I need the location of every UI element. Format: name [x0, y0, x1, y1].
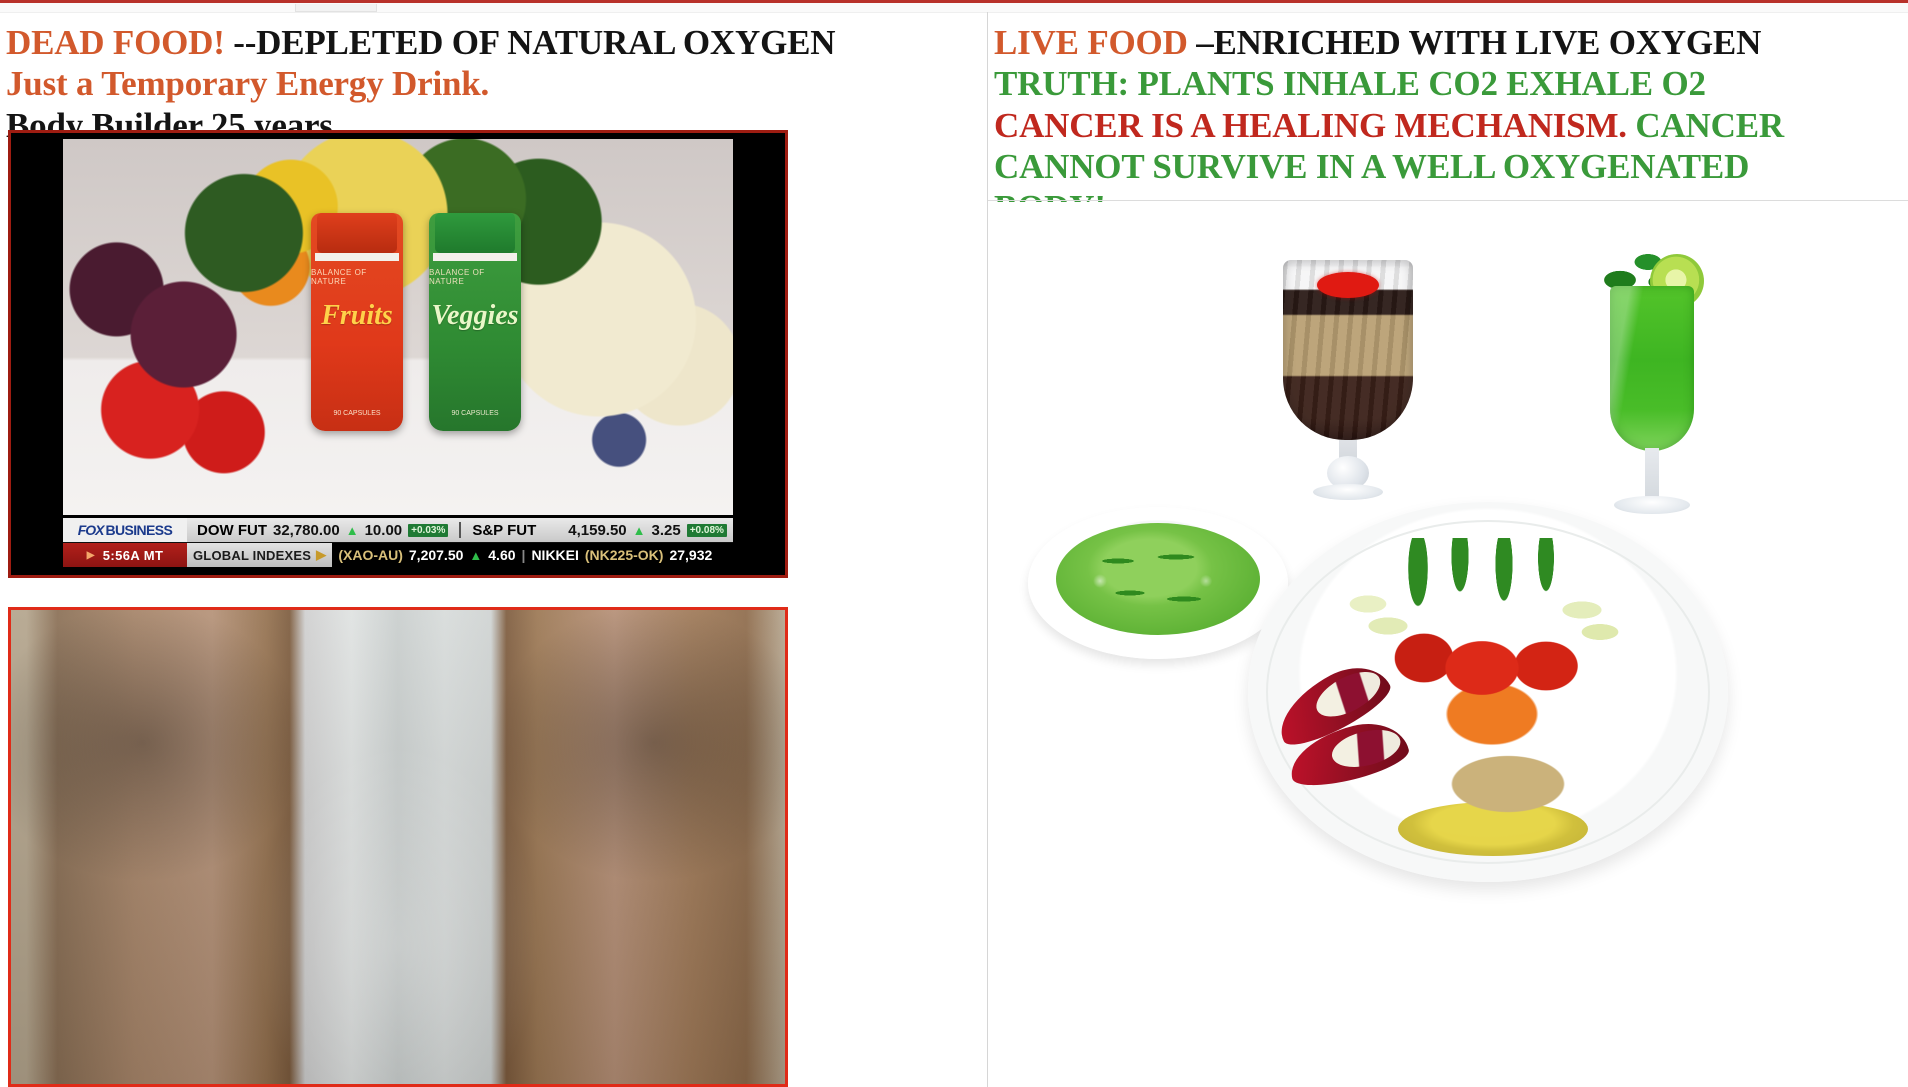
capsule-count-fruits: 90 CAPSULES	[333, 410, 380, 417]
toolbar-ghost-tab	[295, 4, 377, 12]
xao-au-up-arrow-icon: ▲	[469, 548, 482, 563]
layered-dessert-drink-glass	[1283, 260, 1413, 490]
global-indexes-arrow-icon: ▶	[316, 547, 326, 563]
green-soup-bowl	[1028, 507, 1288, 659]
capsule-count-veggies: 90 CAPSULES	[451, 410, 498, 417]
sp-fut-label: S&P FUT	[472, 522, 536, 539]
tv-screenshot-frame: BALANCE OF NATURE Fruits 90 CAPSULES BAL…	[8, 130, 788, 578]
enriched-oxygen-label: –ENRICHED WITH LIVE OXYGEN	[1196, 23, 1761, 62]
brand-text-fruits: BALANCE OF NATURE	[311, 268, 403, 286]
tv-screen: BALANCE OF NATURE Fruits 90 CAPSULES BAL…	[11, 133, 785, 575]
bottle-cap-fruits	[317, 213, 397, 253]
nikkei-symbol: (NK225-OK)	[585, 547, 664, 563]
right-heading-block: LIVE FOOD –ENRICHED WITH LIVE OXYGEN TRU…	[988, 12, 1908, 228]
raw-vegetable-salad-plate	[1248, 502, 1728, 882]
dow-fut-change: 10.00	[365, 522, 403, 539]
cancer-word-green: CANCER	[1635, 106, 1784, 145]
ticker-row-2: ▶ 5:56A MT GLOBAL INDEXES▶ (XAO-AU) 7,20…	[63, 543, 733, 567]
xao-au-value: 7,207.50	[409, 547, 464, 563]
green-smoothie-cup	[1610, 286, 1694, 451]
left-heading-line-2: Just a Temporary Energy Drink.	[6, 63, 987, 104]
left-heading-block: DEAD FOOD! --DEPLETED OF NATURAL OXYGEN …	[0, 12, 987, 146]
sp-fut-change: 3.25	[652, 522, 681, 539]
right-heading-line-1: LIVE FOOD –ENRICHED WITH LIVE OXYGEN	[994, 22, 1908, 63]
ticker-quotes-row-1: DOW FUT 32,780.00 ▲ 10.00 +0.03% S&P FUT…	[187, 518, 733, 542]
right-heading-line-3: CANCER IS A HEALING MECHANISM. CANCER	[994, 105, 1908, 146]
ticker-divider-1	[459, 522, 461, 539]
bodybuilder-photo-frame	[8, 607, 788, 1087]
bottle-cap-veggies	[435, 213, 515, 253]
flute-stem	[1645, 448, 1659, 500]
global-indexes-label: GLOBAL INDEXES▶	[187, 543, 332, 567]
bottle-neck-veggies	[433, 253, 517, 261]
dessert-glass-foot	[1313, 484, 1383, 500]
cherry-topping	[1317, 272, 1379, 298]
bottle-label-veggies: BALANCE OF NATURE Veggies 90 CAPSULES	[429, 261, 521, 431]
depleted-oxygen-label: --DEPLETED OF NATURAL OXYGEN	[225, 23, 836, 62]
right-heading-line-4: CANNOT SURVIVE IN A WELL OXYGENATED	[994, 146, 1908, 187]
dow-fut-label: DOW FUT	[197, 522, 267, 539]
play-arrow-icon: ▶	[87, 550, 95, 561]
two-column-table: DEAD FOOD! --DEPLETED OF NATURAL OXYGEN …	[0, 12, 1908, 1087]
ticker-quotes-row-2: GLOBAL INDEXES▶ (XAO-AU) 7,207.50 ▲ 4.60…	[187, 543, 733, 567]
right-heading-line-2: TRUTH: PLANTS INHALE CO2 EXHALE O2	[994, 63, 1908, 104]
green-soup-liquid	[1056, 523, 1260, 635]
dow-fut-up-arrow-icon: ▲	[346, 523, 359, 538]
sp-fut-percent: +0.08%	[687, 524, 727, 537]
business-wordmark: BUSINESS	[106, 522, 173, 538]
live-food-label: LIVE FOOD	[994, 23, 1196, 62]
bottle-label-fruits: BALANCE OF NATURE Fruits 90 CAPSULES	[311, 261, 403, 431]
right-column-live-food: LIVE FOOD –ENRICHED WITH LIVE OXYGEN TRU…	[988, 12, 1908, 1087]
bodybuilder-photo-shading	[11, 610, 785, 1084]
bottle-neck-fruits	[315, 253, 399, 261]
brand-text-veggies: BALANCE OF NATURE	[429, 268, 521, 286]
sp-fut-value: 4,159.50	[568, 522, 626, 539]
dow-fut-value: 32,780.00	[273, 522, 340, 539]
right-cell-divider	[988, 200, 1908, 201]
fox-business-logo: FOX BUSINESS	[63, 518, 187, 542]
flute-foot	[1614, 496, 1690, 514]
veggies-supplement-bottle: BALANCE OF NATURE Veggies 90 CAPSULES	[429, 213, 521, 431]
green-smoothie-champagne-flute	[1588, 224, 1718, 534]
fruits-supplement-bottle: BALANCE OF NATURE Fruits 90 CAPSULES	[311, 213, 403, 431]
ticker-clock: ▶ 5:56A MT	[63, 543, 187, 567]
xao-au-change: 4.60	[488, 547, 515, 563]
ticker-clock-value: 5:56A MT	[103, 548, 164, 563]
dow-fut-percent: +0.03%	[408, 524, 448, 537]
product-text-veggies: Veggies	[431, 300, 518, 332]
dead-food-label: DEAD FOOD!	[6, 23, 225, 62]
cancer-healing-label: CANCER IS A HEALING MECHANISM.	[994, 106, 1635, 145]
nikkei-label: NIKKEI	[531, 547, 578, 563]
ticker-row-1: FOX BUSINESS DOW FUT 32,780.00 ▲ 10.00 +…	[63, 518, 733, 543]
xao-au-symbol: (XAO-AU)	[338, 547, 403, 563]
left-heading-line-1: DEAD FOOD! --DEPLETED OF NATURAL OXYGEN	[6, 22, 987, 63]
produce-background-photo: BALANCE OF NATURE Fruits 90 CAPSULES BAL…	[63, 139, 733, 515]
live-food-artwork	[988, 202, 1908, 1087]
ticker-divider-2: |	[522, 547, 526, 563]
document-page: DEAD FOOD! --DEPLETED OF NATURAL OXYGEN …	[0, 0, 1908, 1087]
sp-fut-up-arrow-icon: ▲	[633, 523, 646, 538]
left-column-dead-food: DEAD FOOD! --DEPLETED OF NATURAL OXYGEN …	[0, 12, 988, 1087]
nikkei-value: 27,932	[669, 547, 712, 563]
fox-wordmark: FOX	[78, 522, 104, 538]
fox-business-ticker: FOX BUSINESS DOW FUT 32,780.00 ▲ 10.00 +…	[63, 518, 733, 568]
product-text-fruits: Fruits	[321, 300, 393, 332]
global-indexes-text: GLOBAL INDEXES	[193, 548, 311, 563]
